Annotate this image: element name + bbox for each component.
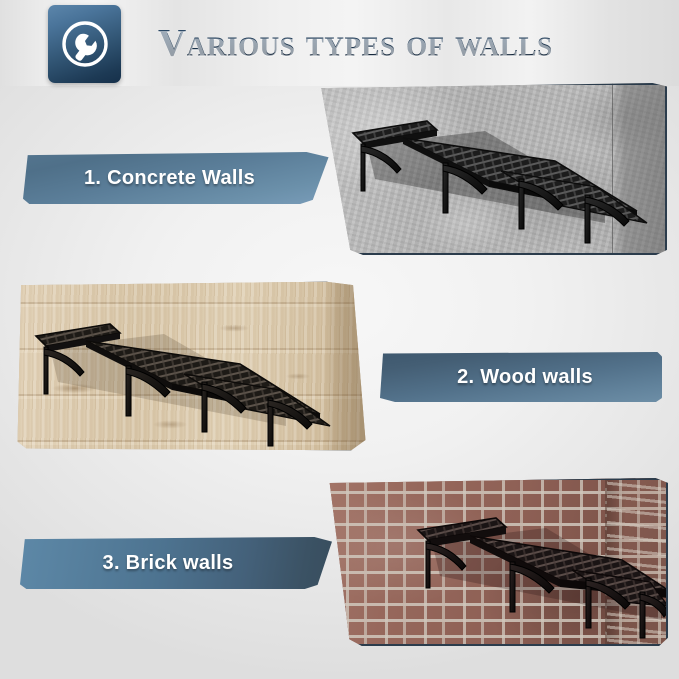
infographic-canvas: Various types of walls bbox=[0, 0, 679, 679]
header-bar: Various types of walls bbox=[0, 0, 679, 86]
photo-panel-wood bbox=[14, 280, 369, 452]
label-banner-concrete-text: 1. Concrete Walls bbox=[84, 167, 255, 190]
label-banner-wood[interactable]: 2. Wood walls bbox=[362, 352, 662, 402]
label-banner-wood-text: 2. Wood walls bbox=[457, 366, 593, 389]
wood-wall-texture bbox=[14, 280, 369, 452]
label-banner-brick[interactable]: 3. Brick walls bbox=[20, 537, 340, 589]
photo-panel-brick bbox=[310, 478, 668, 646]
label-banner-concrete[interactable]: 1. Concrete Walls bbox=[23, 152, 338, 204]
page-title: Various types of walls bbox=[158, 24, 553, 63]
brick-wall-texture bbox=[310, 478, 668, 646]
photo-panel-concrete bbox=[305, 83, 667, 255]
label-banner-brick-text: 3. Brick walls bbox=[103, 552, 234, 575]
concrete-wall-texture bbox=[305, 83, 667, 255]
wrench-circle-icon bbox=[48, 5, 121, 83]
